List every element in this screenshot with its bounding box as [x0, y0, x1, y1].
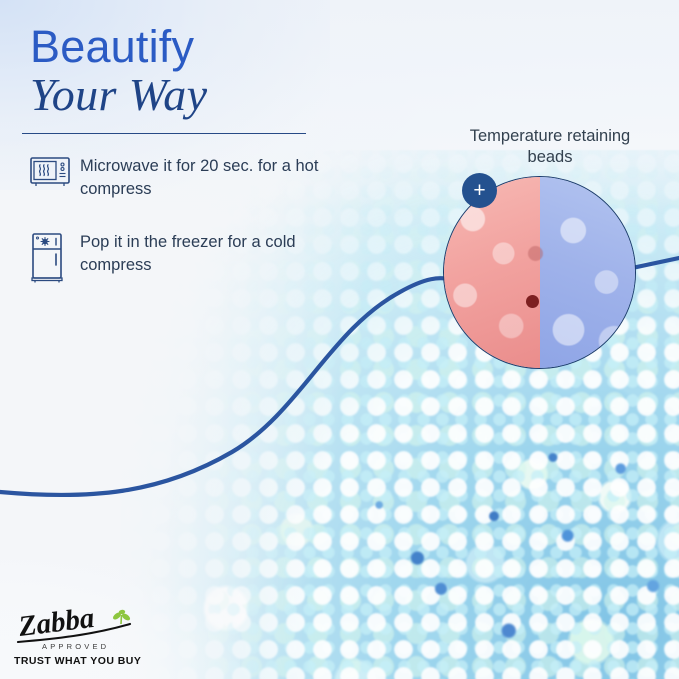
brand-logo: Zabba APPROVED TRUST WHAT YOU BUY [14, 608, 154, 667]
logo-tagline: TRUST WHAT YOU BUY [14, 655, 154, 667]
leaf-sprout-icon [112, 609, 131, 624]
bead-speck-light [528, 246, 543, 261]
infographic-canvas: Beautify Your Way [0, 0, 679, 679]
callout-hot-half [444, 177, 540, 368]
plus-badge-icon[interactable]: + [462, 173, 497, 208]
callout-cold-half [540, 177, 636, 368]
zabba-wordmark: Zabba [14, 608, 154, 648]
callout-label: Temperature retaining beads [452, 126, 648, 168]
